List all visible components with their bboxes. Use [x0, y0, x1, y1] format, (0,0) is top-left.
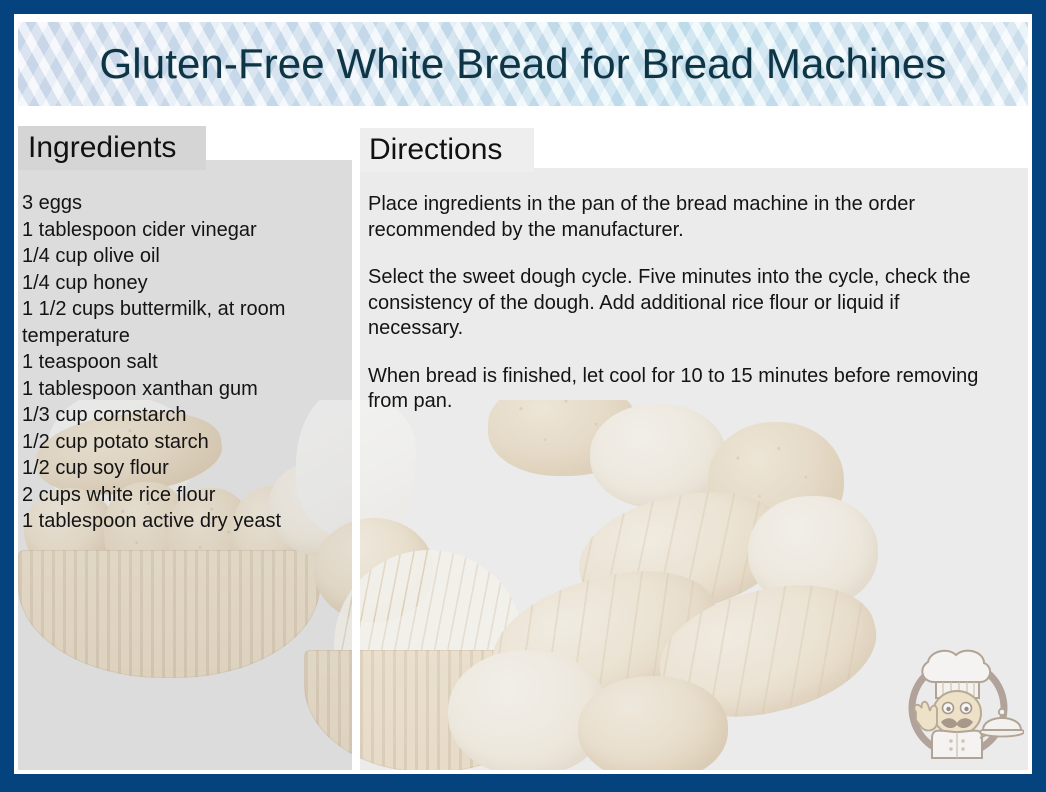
- list-item: 1/2 cup potato starch: [22, 429, 348, 456]
- ingredients-list: 3 eggs 1 tablespoon cider vinegar 1/4 cu…: [22, 190, 348, 535]
- list-item: 1 tablespoon cider vinegar: [22, 217, 348, 244]
- list-item: 2 cups white rice flour: [22, 482, 348, 509]
- frame-border-left: [0, 0, 14, 792]
- direction-step: Select the sweet dough cycle. Five minut…: [368, 265, 998, 342]
- frame-border-bottom: [0, 774, 1046, 792]
- title-banner: Gluten-Free White Bread for Bread Machin…: [18, 22, 1028, 106]
- direction-step: When bread is finished, let cool for 10 …: [368, 364, 998, 415]
- list-item: 1/4 cup honey: [22, 270, 348, 297]
- frame-border-right: [1032, 0, 1046, 792]
- ingredients-heading-tab: Ingredients: [18, 126, 206, 170]
- directions-heading-label: Directions: [369, 133, 502, 167]
- list-item: 1 tablespoon active dry yeast: [22, 508, 348, 535]
- list-item: 1 1/2 cups buttermilk, at room temperatu…: [22, 296, 322, 349]
- frame-border-top: [0, 0, 1046, 14]
- directions-heading-tab: Directions: [360, 128, 534, 172]
- recipe-slide: Gluten-Free White Bread for Bread Machin…: [0, 0, 1046, 792]
- list-item: 1 teaspoon salt: [22, 349, 348, 376]
- list-item: 1/2 cup soy flour: [22, 455, 348, 482]
- list-item: 3 eggs: [22, 190, 348, 217]
- ingredients-heading-label: Ingredients: [28, 131, 176, 165]
- list-item: 1 tablespoon xanthan gum: [22, 376, 348, 403]
- page-title: Gluten-Free White Bread for Bread Machin…: [100, 40, 947, 88]
- list-item: 1/3 cup cornstarch: [22, 402, 348, 429]
- directions-list: Place ingredients in the pan of the brea…: [368, 192, 998, 415]
- list-item: 1/4 cup olive oil: [22, 243, 348, 270]
- direction-step: Place ingredients in the pan of the brea…: [368, 192, 998, 243]
